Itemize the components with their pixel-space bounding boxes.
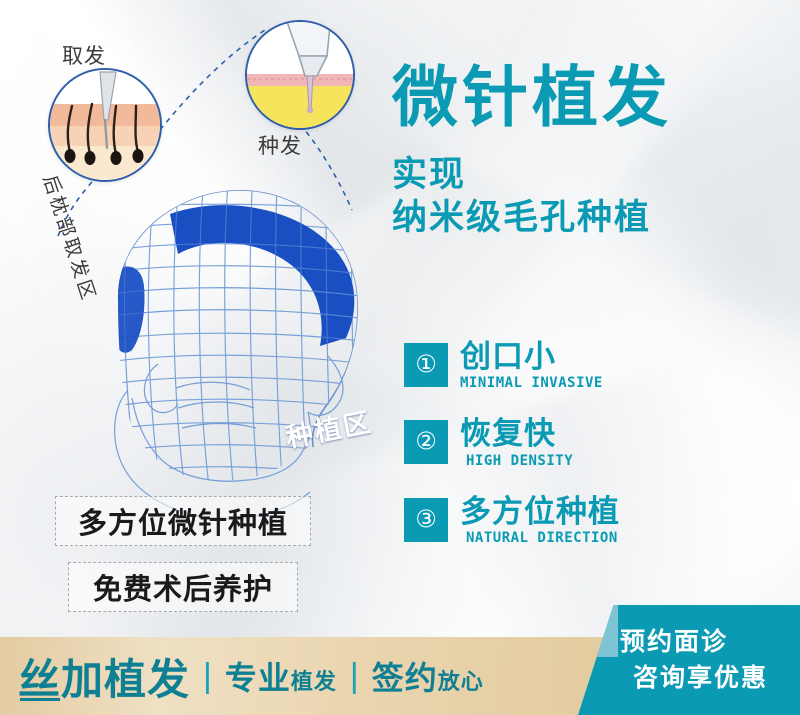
circle-label-extract: 取发 bbox=[62, 40, 106, 70]
feature-number-badge: ② bbox=[404, 420, 448, 464]
cta-panel[interactable]: 预约面诊 咨询享优惠 bbox=[578, 605, 800, 715]
feature-subtitle: NATURAL DIRECTION bbox=[466, 530, 620, 546]
feature-title: 创口小 bbox=[460, 340, 603, 373]
cta-line-2: 咨询享优惠 bbox=[633, 661, 796, 697]
feature-subtitle: MINIMAL INVASIVE bbox=[460, 375, 603, 391]
feature-title: 多方位种植 bbox=[460, 495, 620, 528]
subtitle-line-1: 实现 bbox=[392, 154, 792, 197]
brand-logo-text: 丝加植发 bbox=[18, 646, 190, 707]
feature-number-badge: ① bbox=[404, 343, 448, 387]
brand-strip: 丝加植发 | 专业 植发 | 签约 放心 bbox=[18, 637, 484, 715]
slogan-2-small: 放心 bbox=[438, 664, 484, 696]
feature-title: 恢复快 bbox=[460, 417, 573, 450]
slogan-2-big: 签约 bbox=[372, 653, 438, 699]
tag-box-multi-direction: 多方位微针种植 bbox=[55, 496, 311, 546]
footer-slogan-1: 专业 植发 bbox=[225, 653, 337, 699]
subtitle-line-2: 纳米级毛孔种植 bbox=[392, 197, 792, 240]
feature-subtitle: HIGH DENSITY bbox=[466, 453, 573, 469]
headline-block: 微针植发 实现 纳米级毛孔种植 bbox=[392, 64, 792, 239]
tag-box-free-aftercare: 免费术后养护 bbox=[68, 562, 298, 612]
feature-number: ① bbox=[415, 353, 437, 377]
page-title: 微针植发 bbox=[392, 64, 792, 130]
footer-slogan-2: 签约 放心 bbox=[372, 653, 484, 699]
subtitle-block: 实现 纳米级毛孔种植 bbox=[392, 154, 792, 239]
footer-divider-1: | bbox=[203, 659, 212, 693]
feature-item: ③ 多方位种植 NATURAL DIRECTION bbox=[404, 495, 620, 546]
feature-number: ② bbox=[415, 430, 437, 454]
footer-divider-2: | bbox=[350, 659, 359, 693]
brand-label: 丝加植发 bbox=[18, 656, 190, 703]
slogan-1-big: 专业 bbox=[225, 653, 291, 699]
brand-underline bbox=[20, 698, 60, 701]
feature-text: 多方位种植 NATURAL DIRECTION bbox=[460, 495, 620, 546]
poster-canvas: 取发 种发 bbox=[0, 0, 800, 715]
feature-number-badge: ③ bbox=[404, 498, 448, 542]
cta-text-block: 预约面诊 咨询享优惠 bbox=[620, 625, 796, 696]
feature-text: 恢复快 HIGH DENSITY bbox=[460, 417, 573, 468]
feature-text: 创口小 MINIMAL INVASIVE bbox=[460, 340, 603, 391]
slogan-1-small: 植发 bbox=[291, 664, 337, 696]
implanter-needle-icon bbox=[247, 22, 353, 128]
head-wireframe-diagram: 种植区 bbox=[58, 150, 418, 530]
feature-list: ① 创口小 MINIMAL INVASIVE ② 恢复快 HIGH DENSIT… bbox=[404, 340, 620, 572]
feature-number: ③ bbox=[415, 508, 437, 532]
implanter-illustration bbox=[245, 20, 355, 130]
feature-item: ① 创口小 MINIMAL INVASIVE bbox=[404, 340, 620, 391]
feature-item: ② 恢复快 HIGH DENSITY bbox=[404, 417, 620, 468]
cta-line-1: 预约面诊 bbox=[620, 625, 796, 661]
